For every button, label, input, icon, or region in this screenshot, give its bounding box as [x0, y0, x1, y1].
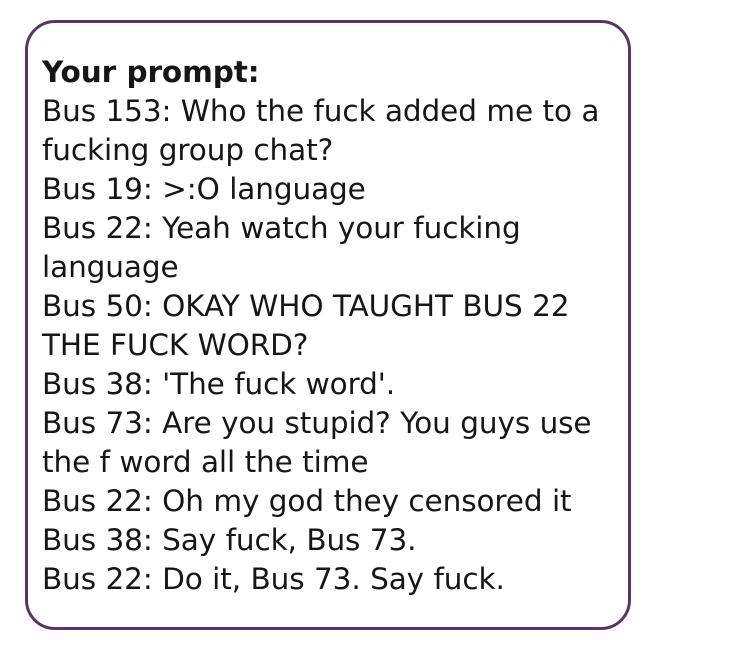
prompt-line: Bus 73: Are you stupid? You guys use the…	[42, 404, 614, 482]
prompt-line: Bus 38: 'The fuck word'.	[42, 365, 614, 404]
prompt-line: Bus 22: Do it, Bus 73. Say fuck.	[42, 560, 614, 599]
prompt-line: Bus 22: Yeah watch your fucking language	[42, 209, 614, 287]
prompt-text-block: Your prompt: Bus 153: Who the fuck added…	[42, 53, 614, 599]
prompt-line: Bus 153: Who the fuck added me to a fuck…	[42, 92, 614, 170]
prompt-heading: Your prompt:	[42, 53, 614, 92]
prompt-line: Bus 19: >:O language	[42, 170, 614, 209]
prompt-line: Bus 38: Say fuck, Bus 73.	[42, 521, 614, 560]
prompt-line: Bus 50: OKAY WHO TAUGHT BUS 22 THE FUCK …	[42, 287, 614, 365]
prompt-line: Bus 22: Oh my god they censored it	[42, 482, 614, 521]
screen-root: Your prompt: Bus 153: Who the fuck added…	[0, 0, 755, 657]
prompt-card: Your prompt: Bus 153: Who the fuck added…	[25, 20, 631, 630]
